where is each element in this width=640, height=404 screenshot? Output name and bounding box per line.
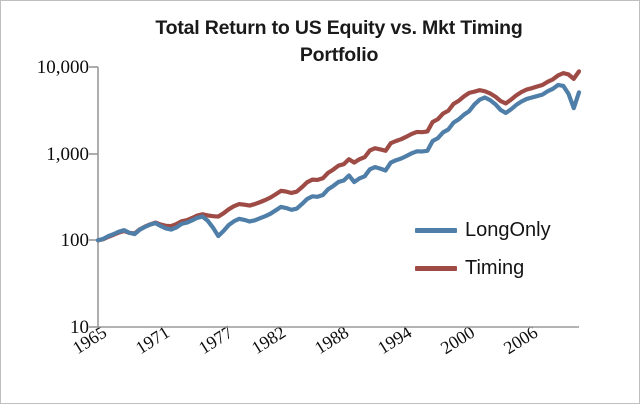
plot-area (1, 1, 639, 403)
legend-label-longonly: LongOnly (465, 216, 551, 244)
y-axis-ticks (89, 67, 98, 327)
chart-container: Total Return to US Equity vs. Mkt Timing… (1, 1, 639, 403)
legend-swatch-longonly (415, 228, 457, 233)
legend-label-timing: Timing (465, 254, 524, 282)
axis-lines (98, 67, 579, 327)
chart-screenshot: Total Return to US Equity vs. Mkt Timing… (0, 0, 640, 404)
series-line-timing (98, 71, 579, 240)
series-layer (98, 71, 579, 240)
legend-swatch-timing (415, 266, 457, 271)
